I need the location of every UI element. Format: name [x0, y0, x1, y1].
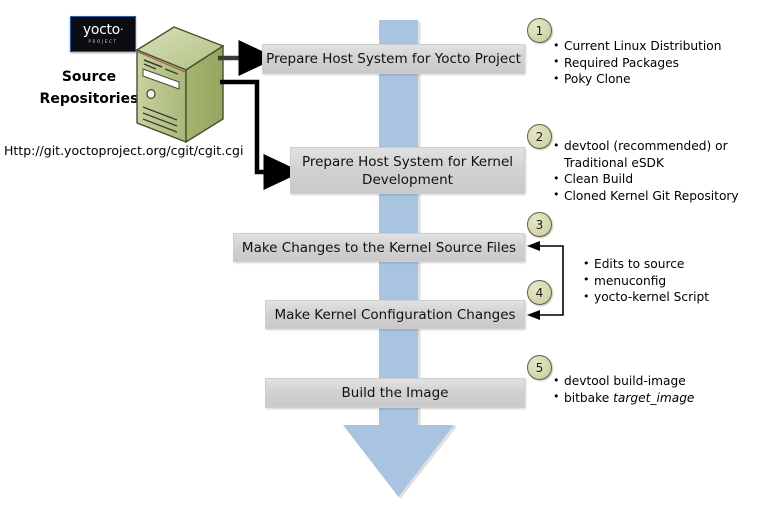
- note-item: devtool build-image: [553, 373, 765, 390]
- process-box-step2[interactable]: Prepare Host System for Kernel Developme…: [290, 147, 525, 194]
- note-item: devtool (recommended) or Traditional eSD…: [553, 138, 765, 171]
- step-number-5: 5: [536, 361, 544, 375]
- process-box-step2-line1: Prepare Host System for Kernel: [302, 154, 513, 170]
- notes-step5: devtool build-image bitbake target_image: [553, 373, 765, 406]
- logo-wordmark: yocto·: [83, 23, 123, 37]
- process-box-step1-label: Prepare Host System for Yocto Project: [266, 50, 521, 68]
- note-item: yocto-kernel Script: [583, 289, 763, 306]
- server-tower-icon: [134, 24, 226, 146]
- source-repositories-label: Source Repositories: [34, 66, 144, 110]
- note-item: Poky Clone: [553, 71, 765, 88]
- step-number-badge-2: 2: [527, 124, 552, 149]
- step-number-4: 4: [536, 286, 544, 300]
- process-box-step4[interactable]: Make Kernel Configuration Changes: [265, 300, 525, 329]
- note-item: Edits to source: [583, 256, 763, 273]
- notes-step1: Current Linux Distribution Required Pack…: [553, 38, 765, 88]
- source-repositories-line1: Source: [34, 66, 144, 88]
- step-number-1: 1: [536, 24, 544, 38]
- note-item: Clean Build: [553, 171, 765, 188]
- note-bitbake-target: target_image: [613, 391, 694, 405]
- logo-dot-icon: ·: [120, 23, 123, 36]
- yocto-project-logo: yocto· PROJECT: [70, 16, 136, 52]
- note-item: Required Packages: [553, 55, 765, 72]
- note-item: Cloned Kernel Git Repository: [553, 188, 765, 205]
- process-box-step5-label: Build the Image: [342, 384, 449, 402]
- notes-step3-step4: Edits to source menuconfig yocto-kernel …: [583, 256, 763, 306]
- process-box-step2-label: Prepare Host System for Kernel Developme…: [302, 153, 513, 189]
- logo-subtext: PROJECT: [88, 38, 117, 45]
- step-number-badge-3: 3: [527, 212, 552, 237]
- note-bitbake-prefix: bitbake: [564, 391, 613, 405]
- step-number-badge-1: 1: [527, 18, 552, 43]
- step-number-badge-4: 4: [527, 280, 552, 305]
- process-box-step2-line2: Development: [362, 172, 453, 188]
- process-box-step4-label: Make Kernel Configuration Changes: [274, 306, 515, 324]
- note-item: Current Linux Distribution: [553, 38, 765, 55]
- note-item: menuconfig: [583, 273, 763, 290]
- step-number-2: 2: [536, 130, 544, 144]
- process-box-step5[interactable]: Build the Image: [265, 378, 525, 408]
- step-number-badge-5: 5: [527, 355, 552, 380]
- process-box-step3[interactable]: Make Changes to the Kernel Source Files: [233, 233, 525, 262]
- connector-server-to-step2: [220, 82, 268, 172]
- notes-step2: devtool (recommended) or Traditional eSD…: [553, 138, 765, 204]
- process-box-step3-label: Make Changes to the Kernel Source Files: [242, 239, 516, 257]
- step-number-3: 3: [536, 218, 544, 232]
- diagram-canvas: yocto· PROJECT Source Repositories Http:…: [0, 0, 769, 517]
- process-box-step1[interactable]: Prepare Host System for Yocto Project: [262, 44, 525, 74]
- note-item-bitbake: bitbake target_image: [553, 390, 765, 407]
- source-repositories-line2: Repositories: [34, 88, 144, 110]
